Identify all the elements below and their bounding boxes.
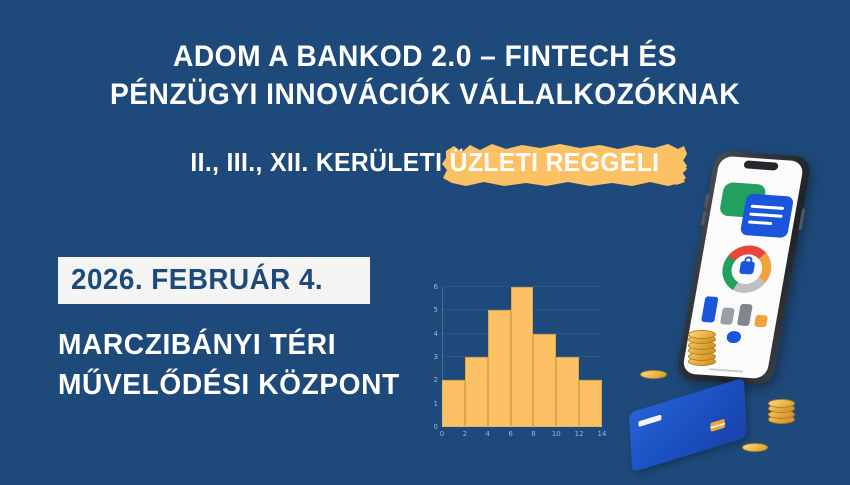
- chart-bar: [579, 380, 602, 427]
- card-text-line: [749, 213, 783, 218]
- bar-tile-orange: [754, 315, 768, 328]
- card-text-line: [748, 220, 773, 225]
- bar-tile-blue: [701, 296, 719, 323]
- chart-y-axis-line: [442, 287, 443, 427]
- chart-bar: [442, 380, 465, 427]
- blue-message-card-widget: [740, 193, 794, 238]
- lock-icon-body: [739, 261, 755, 275]
- chart-y-tick-label: 4: [424, 331, 438, 338]
- chart-y-tick-label: 2: [424, 377, 438, 384]
- chart-y-tick-label: 6: [424, 284, 438, 291]
- chart-x-tick-label: 4: [480, 430, 496, 438]
- gold-coin: [688, 330, 716, 339]
- chart-bar: [556, 357, 579, 427]
- venue-block: MARCZIBÁNYI TÉRI MŰVELŐDÉSI KÖZPONT: [58, 325, 410, 405]
- home-indicator-dot: [726, 331, 742, 344]
- bar-tile-gray: [737, 304, 753, 327]
- date-badge: 2026. FEBRUÁR 4.: [58, 257, 370, 304]
- chart-x-tick-label: 6: [503, 430, 519, 438]
- card-magnetic-stripe: [638, 414, 661, 427]
- chart-x-tick-label: 2: [457, 430, 473, 438]
- title-line-1: ADOM A BANKOD 2.0 – FINTECH ÉS: [26, 38, 825, 76]
- donut-chart-widget: [719, 244, 775, 295]
- chart-x-tick-label: 12: [571, 430, 587, 438]
- card-text-line: [751, 205, 785, 210]
- chart-plot-area: [442, 287, 602, 427]
- gold-coin: [640, 370, 667, 379]
- chart-bar: [511, 287, 534, 427]
- home-indicator-bar: [709, 368, 743, 372]
- bar-tile-gray: [720, 307, 735, 325]
- chart-x-tick-label: 0: [434, 430, 450, 438]
- chart-y-tick-label: 5: [424, 307, 438, 314]
- phone-notch: [743, 160, 778, 170]
- histogram-chart: 0123456 02468101214: [424, 283, 610, 451]
- poster-canvas: ADOM A BANKOD 2.0 – FINTECH ÉS PÉNZÜGYI …: [0, 0, 850, 485]
- chart-bar: [465, 357, 488, 427]
- date-text: 2026. FEBRUÁR 4.: [71, 264, 323, 297]
- chart-x-tick-label: 10: [548, 430, 564, 438]
- chart-x-axis-line: [442, 426, 602, 427]
- title-line-2: PÉNZÜGYI INNOVÁCIÓK VÁLLALKOZÓKNAK: [26, 76, 825, 114]
- poster-title: ADOM A BANKOD 2.0 – FINTECH ÉS PÉNZÜGYI …: [0, 38, 850, 114]
- chart-y-tick-label: 1: [424, 401, 438, 408]
- gold-coin: [768, 399, 795, 408]
- chart-y-tick-label: 3: [424, 354, 438, 361]
- gold-coin: [742, 443, 768, 452]
- chart-x-tick-label: 14: [594, 430, 610, 438]
- card-chip-icon: [710, 419, 725, 432]
- chart-bar: [533, 334, 556, 427]
- chart-bar: [488, 310, 511, 427]
- subtitle-text: II., III., XII. KERÜLETI ÜZLETI REGGELI: [190, 140, 659, 184]
- chart-x-tick-label: 8: [525, 430, 541, 438]
- venue-line-2: MŰVELŐDÉSI KÖZPONT: [58, 365, 400, 405]
- venue-line-1: MARCZIBÁNYI TÉRI: [58, 325, 400, 365]
